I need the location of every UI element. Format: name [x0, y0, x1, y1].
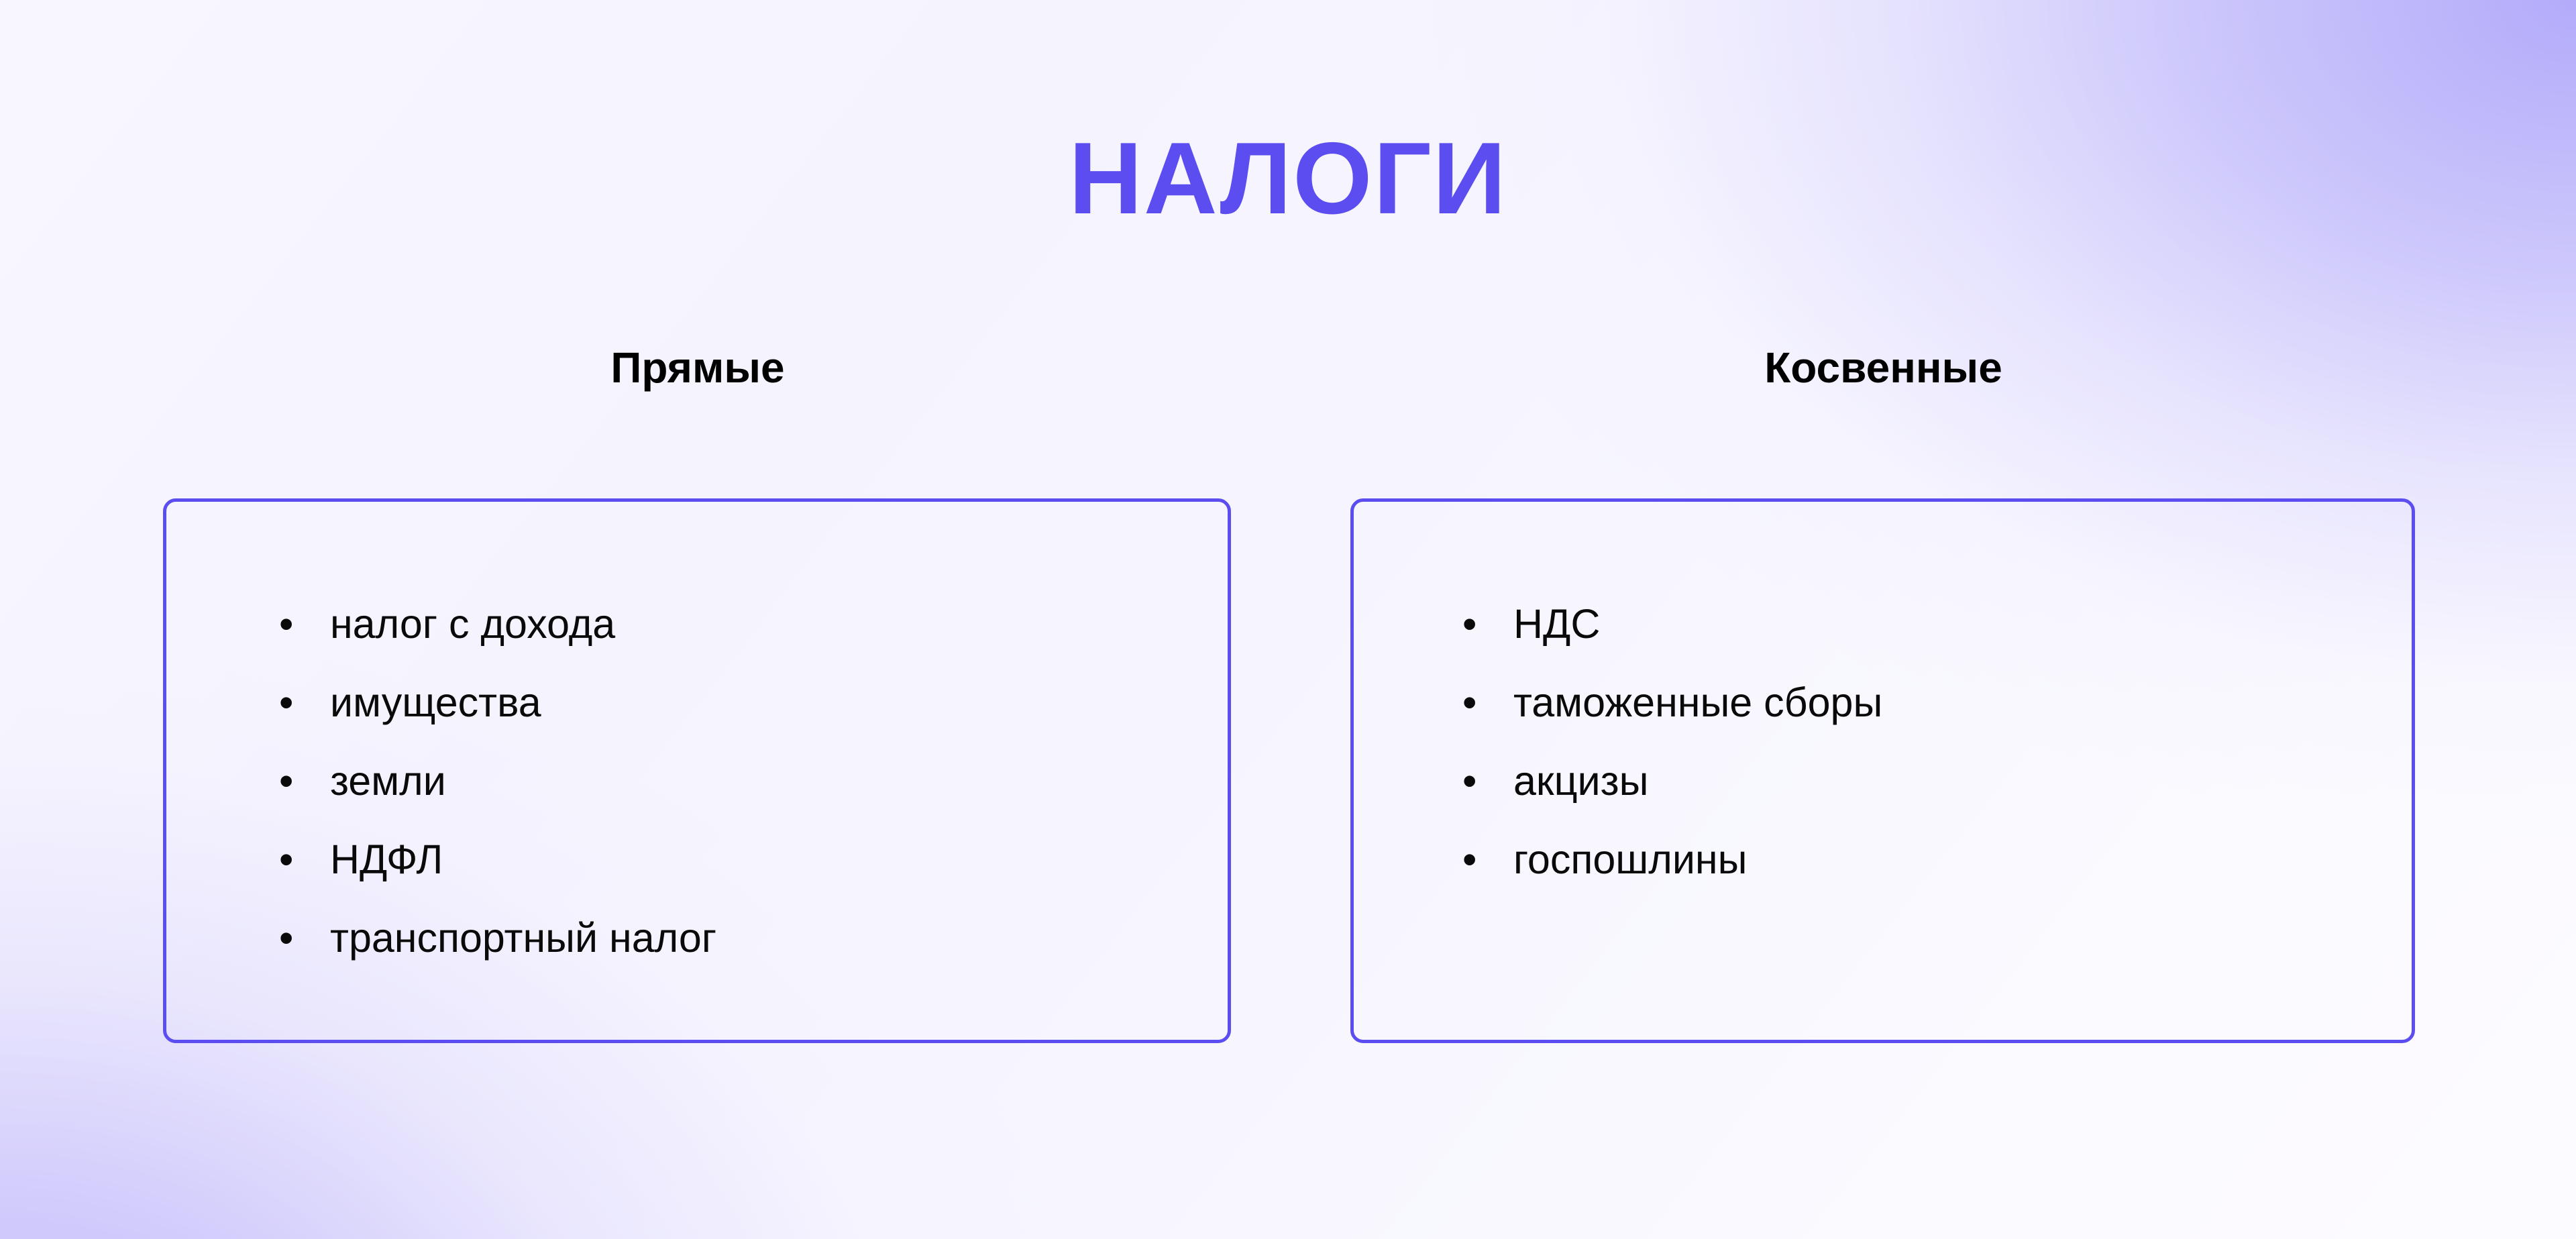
list-item: • налог с дохода — [279, 585, 716, 663]
indirect-taxes-list: • НДС • таможенные сборы • акцизы • госп… — [1462, 585, 1882, 899]
list-item-label: акцизы — [1513, 742, 1648, 820]
list-item-label: госпошлины — [1513, 820, 1747, 899]
column-header-indirect-taxes: Косвенные — [1352, 346, 2415, 389]
list-item: • транспортный налог — [279, 899, 716, 977]
bullet-icon: • — [279, 742, 330, 820]
list-item-label: НДФЛ — [330, 820, 443, 899]
list-item-label: имущества — [330, 663, 541, 742]
list-item: • имущества — [279, 663, 716, 742]
bullet-icon: • — [279, 820, 330, 899]
list-item-label: транспортный налог — [330, 899, 716, 977]
indirect-taxes-box: • НДС • таможенные сборы • акцизы • госп… — [1350, 498, 2415, 1043]
list-item-label: земли — [330, 742, 446, 820]
bullet-icon: • — [279, 585, 330, 663]
list-item: • НДС — [1462, 585, 1882, 663]
bullet-icon: • — [279, 899, 330, 977]
bullet-icon: • — [279, 663, 330, 742]
list-item: • госпошлины — [1462, 820, 1882, 899]
slide-canvas: НАЛОГИ Прямые Косвенные • налог с дохода… — [0, 0, 2576, 1239]
direct-taxes-list: • налог с дохода • имущества • земли • Н… — [279, 585, 716, 977]
list-item-label: таможенные сборы — [1513, 663, 1882, 742]
page-title: НАЛОГИ — [0, 127, 2576, 229]
column-header-direct-taxes: Прямые — [164, 346, 1231, 389]
bullet-icon: • — [1462, 663, 1513, 742]
list-item-label: НДС — [1513, 585, 1600, 663]
list-item: • земли — [279, 742, 716, 820]
list-item: • НДФЛ — [279, 820, 716, 899]
list-item: • таможенные сборы — [1462, 663, 1882, 742]
list-item-label: налог с дохода — [330, 585, 615, 663]
bullet-icon: • — [1462, 585, 1513, 663]
direct-taxes-box: • налог с дохода • имущества • земли • Н… — [163, 498, 1231, 1043]
bullet-icon: • — [1462, 820, 1513, 899]
list-item: • акцизы — [1462, 742, 1882, 820]
bullet-icon: • — [1462, 742, 1513, 820]
